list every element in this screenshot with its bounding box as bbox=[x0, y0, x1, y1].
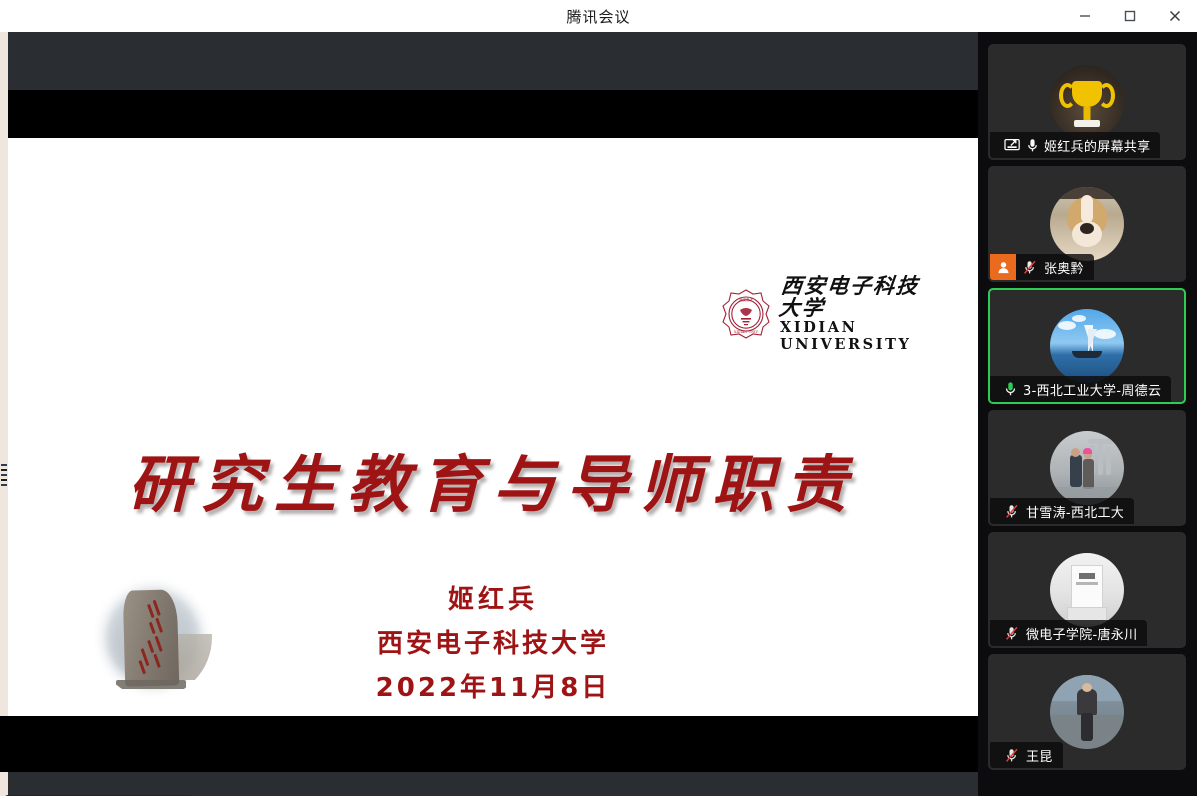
screen-share-icon bbox=[1004, 138, 1021, 153]
book-avatar bbox=[1050, 553, 1124, 627]
participant-tile-host[interactable]: 张奥黔 bbox=[988, 166, 1186, 282]
participant-name: 微电子学院-唐永川 bbox=[1026, 624, 1137, 643]
participants-panel[interactable]: 姬红兵的屏幕共享 bbox=[978, 32, 1197, 796]
presenter-name: 姬红兵 bbox=[8, 578, 978, 622]
participant-tile-6[interactable]: 王昆 bbox=[988, 654, 1186, 770]
participant-name: 张奥黔 bbox=[1044, 258, 1084, 277]
svg-text:西安电子: 西安电子 bbox=[739, 297, 753, 302]
background-window-sliver bbox=[0, 32, 8, 796]
slide-title: 研究生教育与导师职责 bbox=[8, 434, 978, 524]
tencent-meeting-window: 腾讯会议 bbox=[0, 0, 1197, 796]
university-logo: 西安电子 XIDIAN UNIV 西安电子科技大学 XIDIAN UNIVERS… bbox=[720, 286, 936, 342]
dog-avatar bbox=[1050, 187, 1124, 261]
presenter-block: 姬红兵 西安电子科技大学 2022年11月8日 bbox=[8, 578, 978, 710]
participant-tile-screen-share[interactable]: 姬红兵的屏幕共享 bbox=[988, 44, 1186, 160]
svg-text:XIDIAN UNIV: XIDIAN UNIV bbox=[734, 330, 758, 334]
participant-tile-5[interactable]: 微电子学院-唐永川 bbox=[988, 532, 1186, 648]
minimize-button[interactable] bbox=[1062, 0, 1107, 32]
presenter-organization: 西安电子科技大学 bbox=[8, 622, 978, 666]
microphone-muted-icon bbox=[1004, 626, 1020, 641]
university-logo-en: XIDIAN UNIVERSITY bbox=[780, 319, 936, 354]
participant-name: 甘雪涛-西北工大 bbox=[1026, 502, 1124, 521]
person-photo-avatar bbox=[1050, 675, 1124, 749]
participant-name: 姬红兵的屏幕共享 bbox=[1044, 136, 1150, 155]
participant-name: 王昆 bbox=[1026, 746, 1053, 765]
participant-info-bar: 张奥黔 bbox=[990, 254, 1094, 280]
xidian-seal-icon: 西安电子 XIDIAN UNIV bbox=[720, 288, 772, 340]
microphone-icon bbox=[1004, 381, 1017, 397]
presentation-date: 2022年11月8日 bbox=[8, 666, 978, 710]
letterbox-bottom bbox=[0, 716, 978, 772]
sailboat-avatar bbox=[1050, 309, 1124, 383]
microphone-icon bbox=[1027, 138, 1038, 153]
participant-tile-4[interactable]: 甘雪涛-西北工大 bbox=[988, 410, 1186, 526]
microphone-muted-icon bbox=[1004, 504, 1020, 519]
couple-photo-avatar bbox=[1050, 431, 1124, 505]
participant-info-bar: 王昆 bbox=[990, 742, 1063, 768]
participant-info-bar: 微电子学院-唐永川 bbox=[990, 620, 1147, 646]
participant-name: 3-西北工业大学-周德云 bbox=[1023, 380, 1161, 399]
window-controls bbox=[1062, 0, 1197, 32]
presentation-slide[interactable]: 西安电子 XIDIAN UNIV 西安电子科技大学 XIDIAN UNIVERS… bbox=[8, 138, 978, 716]
window-title: 腾讯会议 bbox=[0, 0, 1197, 32]
participant-info-bar: 甘雪涛-西北工大 bbox=[990, 498, 1134, 524]
participant-tile-active-speaker[interactable]: 3-西北工业大学-周德云 bbox=[988, 288, 1186, 404]
title-bar: 腾讯会议 bbox=[0, 0, 1197, 32]
microphone-muted-icon bbox=[1022, 260, 1038, 275]
participant-info-bar: 姬红兵的屏幕共享 bbox=[990, 132, 1160, 158]
close-button[interactable] bbox=[1152, 0, 1197, 32]
microphone-muted-icon bbox=[1004, 748, 1020, 763]
maximize-button[interactable] bbox=[1107, 0, 1152, 32]
participant-info-bar: 3-西北工业大学-周德云 bbox=[990, 376, 1171, 402]
trophy-avatar bbox=[1050, 65, 1124, 139]
host-badge-icon bbox=[990, 254, 1016, 280]
university-logo-cn: 西安电子科技大学 bbox=[778, 275, 939, 319]
shared-screen-stage[interactable]: 西安电子 XIDIAN UNIV 西安电子科技大学 XIDIAN UNIVERS… bbox=[0, 32, 978, 796]
